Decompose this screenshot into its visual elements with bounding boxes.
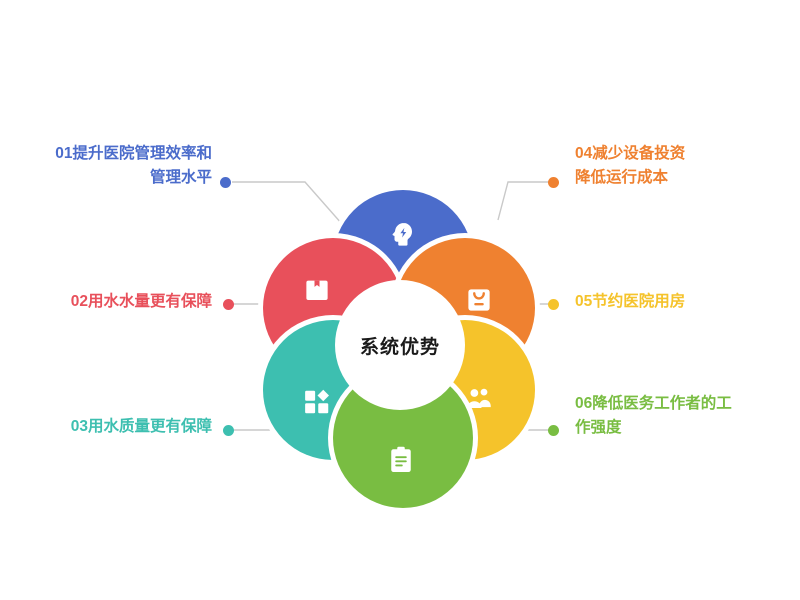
label-04-line-1: 04减少设备投资	[575, 142, 795, 166]
bullet-dot-06	[548, 425, 559, 436]
label-04[interactable]: 04减少设备投资 降低运行成本	[575, 142, 795, 190]
bullet-dot-04	[548, 177, 559, 188]
label-04-line-2: 降低运行成本	[575, 166, 795, 190]
label-01[interactable]: 01提升医院管理效率和 管理水平	[6, 142, 212, 190]
label-01-line-2: 管理水平	[6, 166, 212, 190]
package-box-icon	[302, 275, 332, 305]
bullet-dot-02	[223, 299, 234, 310]
label-06-line-2: 作强度	[575, 416, 795, 440]
label-06[interactable]: 06降低医务工作者的工 作强度	[575, 392, 795, 440]
grid-dashboard-icon	[302, 387, 332, 417]
petal-cluster: 系统优势	[250, 195, 550, 495]
clipboard-icon	[386, 445, 416, 475]
bullet-dot-03	[223, 425, 234, 436]
shopping-bag-icon	[464, 285, 494, 315]
page-title: 系统优势	[360, 332, 440, 359]
label-03[interactable]: 03用水质量更有保障	[6, 415, 212, 439]
label-02[interactable]: 02用水水量更有保障	[6, 290, 212, 314]
bullet-dot-01	[220, 177, 231, 188]
bullet-dot-05	[548, 299, 559, 310]
center-hub: 系统优势	[335, 280, 465, 410]
head-lightning-icon	[388, 219, 418, 249]
label-02-line-1: 02用水水量更有保障	[6, 290, 212, 314]
label-06-line-1: 06降低医务工作者的工	[575, 392, 795, 416]
infographic-canvas: 系统优势 01提升医院管理效率和 管理水平 02用水水量更有保障 03用水质量更…	[0, 0, 800, 600]
label-05-line-1: 05节约医院用房	[575, 290, 795, 314]
label-05[interactable]: 05节约医院用房	[575, 290, 795, 314]
label-01-line-1: 01提升医院管理效率和	[6, 142, 212, 166]
label-03-line-1: 03用水质量更有保障	[6, 415, 212, 439]
